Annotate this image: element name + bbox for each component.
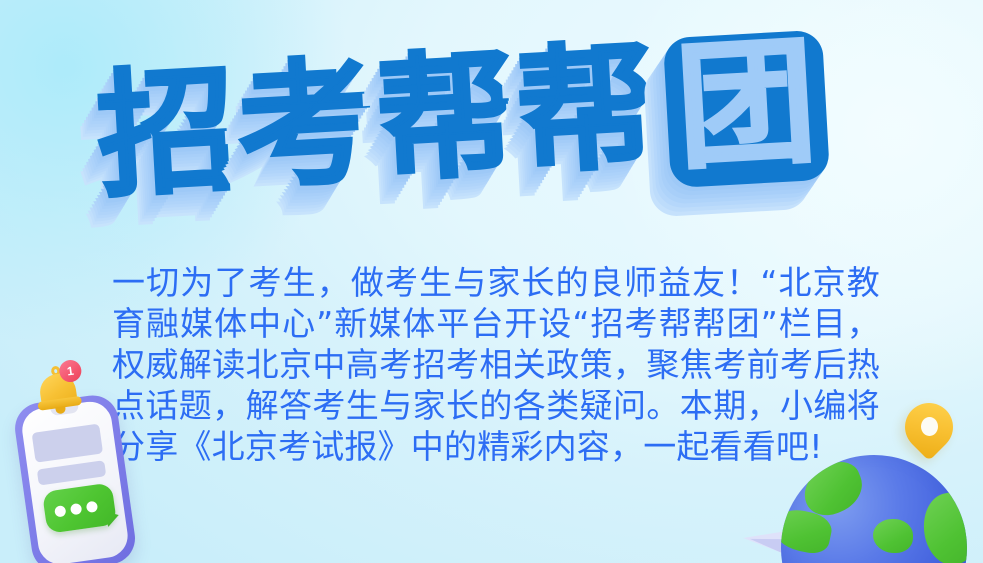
title-char-4: 帮	[513, 39, 659, 183]
poster-title: 招 考 帮 帮 团	[95, 26, 894, 260]
title-char-1: 招	[94, 63, 240, 207]
globe-sphere	[781, 455, 967, 563]
title-char-5-boxed: 团	[663, 30, 830, 189]
location-pin-hole	[921, 417, 938, 436]
location-pin-icon	[905, 403, 955, 469]
globe-landmass-3	[873, 519, 913, 553]
title-char-2: 考	[234, 55, 380, 199]
globe-illustration	[761, 397, 983, 563]
title-character-row: 招 考 帮 帮 团	[95, 26, 892, 220]
globe-landmass-4	[918, 489, 967, 563]
poster-canvas: 招 考 帮 帮 团 一切为了考生，做考生与家长的良师益友！“北京教育融媒体中心”…	[0, 0, 983, 563]
notification-bell-icon: 1	[31, 361, 83, 413]
title-char-3: 帮	[374, 47, 520, 191]
